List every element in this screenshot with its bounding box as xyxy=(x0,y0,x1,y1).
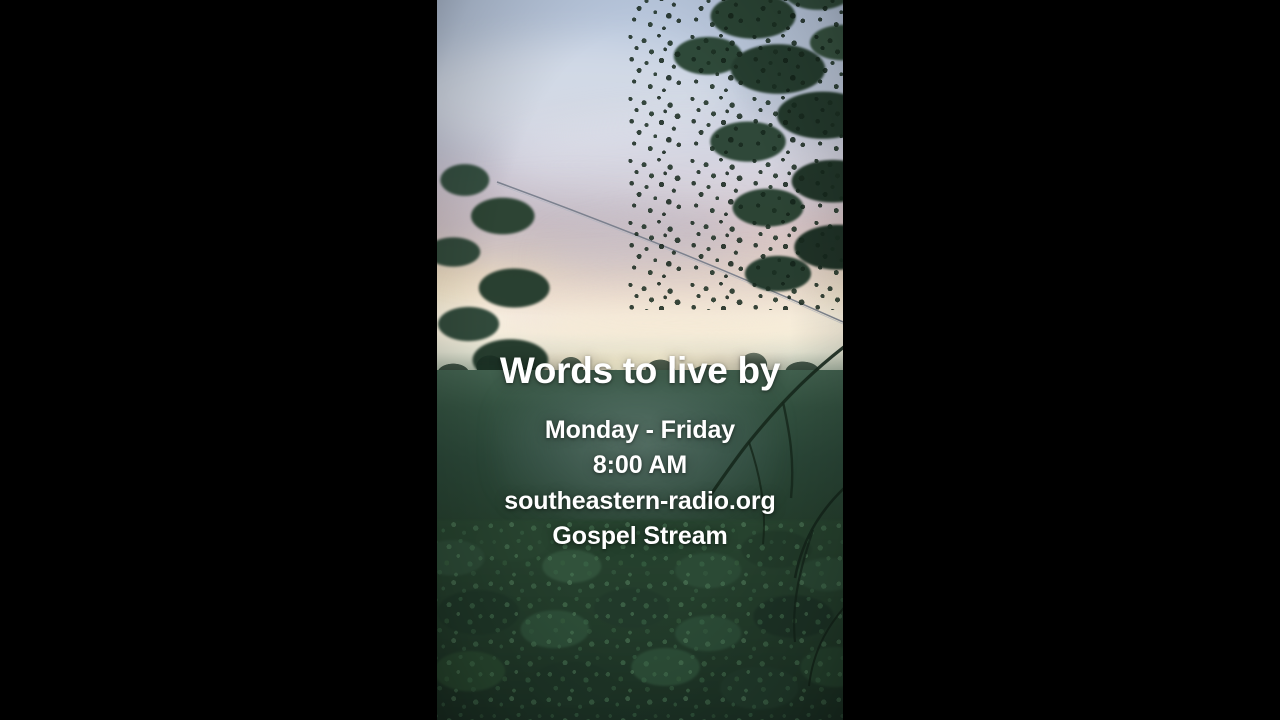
caption-line-schedule: Monday - Friday xyxy=(437,413,843,449)
sky-background xyxy=(437,0,843,400)
video-stage: Words to live by Monday - Friday 8:00 AM… xyxy=(0,0,1280,720)
letterbox-bar-right xyxy=(843,0,1280,720)
letterbox-bar-left xyxy=(0,0,437,720)
video-frame[interactable]: Words to live by Monday - Friday 8:00 AM… xyxy=(437,0,843,720)
foreground-brush xyxy=(437,520,843,720)
caption-line-time: 8:00 AM xyxy=(437,448,843,484)
caption-line-website: southeastern-radio.org xyxy=(437,484,843,520)
caption-line-stream: Gospel Stream xyxy=(437,519,843,555)
valley-haze xyxy=(497,385,777,535)
caption-detail-lines: Monday - Friday 8:00 AM southeastern-rad… xyxy=(437,413,843,555)
forest-midground xyxy=(437,370,843,580)
foreground-leaf-texture xyxy=(437,520,843,720)
